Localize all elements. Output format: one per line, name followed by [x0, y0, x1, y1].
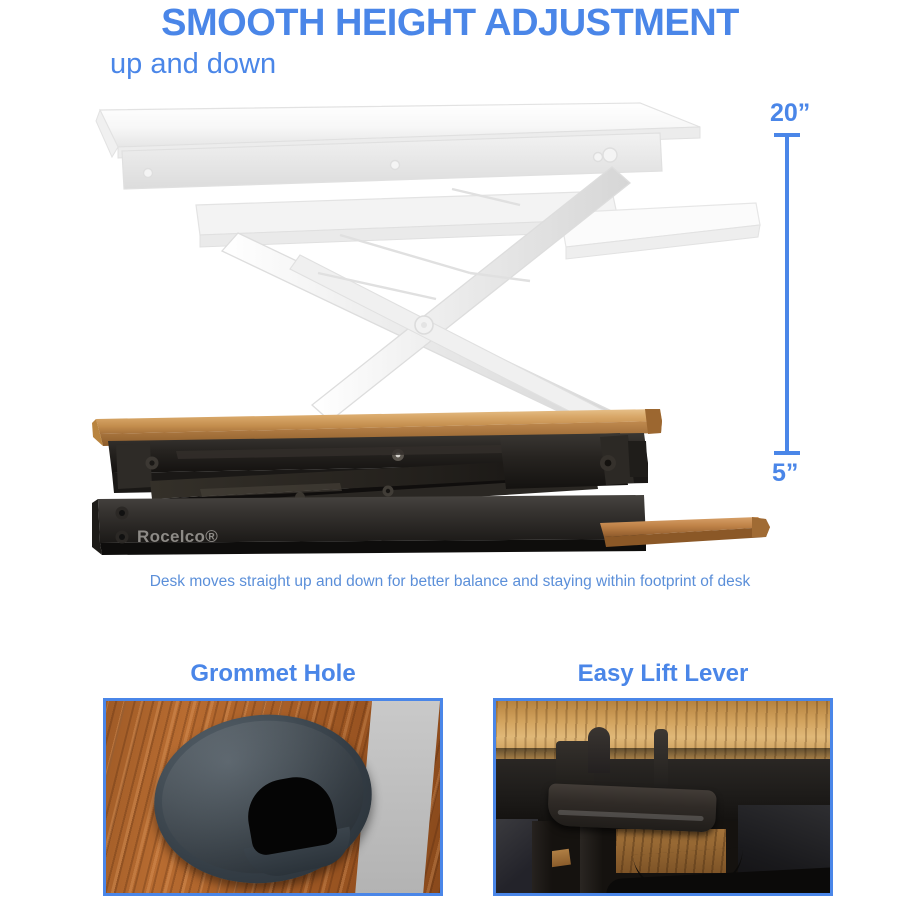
- dimension-cap-bottom: [774, 451, 800, 455]
- lever-release-post: [654, 729, 668, 789]
- page-subtitle: up and down: [110, 48, 276, 81]
- illustration-caption: Desk moves straight up and down for bett…: [0, 573, 900, 591]
- brand-wordmark: Rocelco®: [137, 527, 218, 547]
- feature-heading-grommet-hole: Grommet Hole: [103, 660, 443, 688]
- frame-leg-right: [580, 821, 602, 893]
- easy-lift-lever-handle: [547, 783, 717, 832]
- handle-highlight: [558, 810, 704, 821]
- dimension-line: [785, 135, 789, 453]
- feature-heading-easy-lift-lever: Easy Lift Lever: [493, 660, 833, 688]
- frame-leg-left: [532, 821, 552, 893]
- lever-pivot-knob: [588, 727, 610, 773]
- page-title: SMOOTH HEIGHT ADJUSTMENT: [0, 2, 900, 45]
- feature-photo-easy-lift-lever: [493, 698, 833, 896]
- feature-photo-grommet-hole: [103, 698, 443, 896]
- right-end-mechanism: [500, 433, 648, 489]
- height-dimension-annotation: 20” 5”: [752, 85, 892, 505]
- feature-panels: Grommet Hole Easy Lift Lever: [0, 660, 900, 900]
- dimension-bottom-label: 5”: [772, 459, 798, 488]
- dimension-top-label: 20”: [770, 99, 810, 128]
